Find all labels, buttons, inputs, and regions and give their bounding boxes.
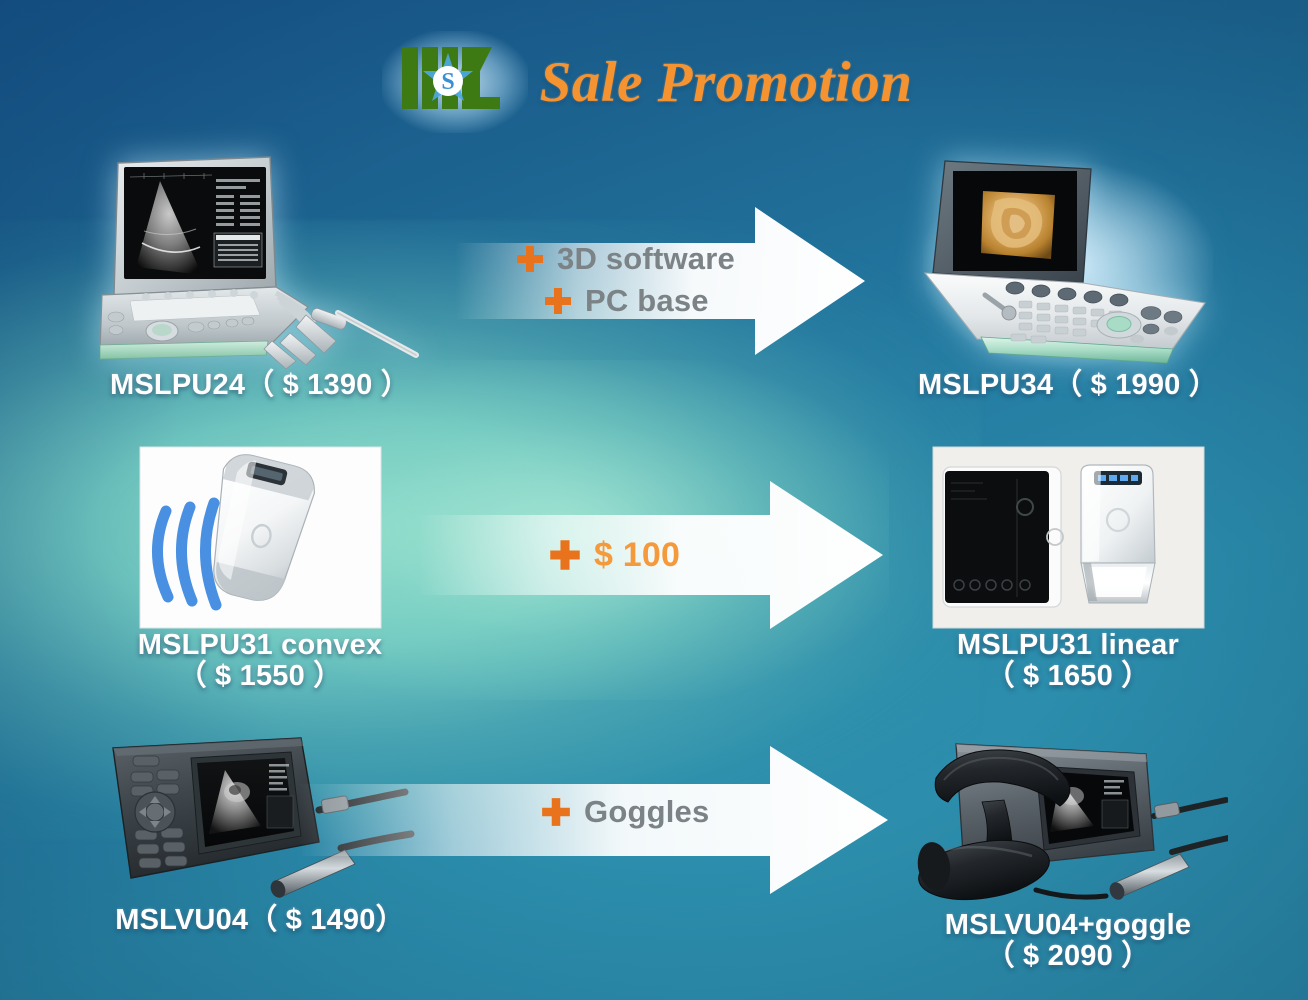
promo-stage: S Sale Promotion bbox=[0, 0, 1308, 1000]
product-mslpu31-convex[interactable]: MSLPU31 convex （ $ 1550 ） bbox=[60, 445, 460, 693]
product-label-mslpu34: MSLPU34（ $ 1990 ） bbox=[868, 370, 1268, 401]
row-2: MSLPU31 convex （ $ 1550 ） $ 100 bbox=[0, 445, 1308, 715]
handheld-vet-with-goggles-art bbox=[908, 730, 1228, 910]
product-label-mslvu04-goggle: MSLVU04+goggle （ $ 2090 ） bbox=[868, 910, 1268, 973]
product-mslpu24[interactable]: MSLPU24（ $ 1390 ） bbox=[60, 155, 460, 401]
laptop-ultrasound-3d-art bbox=[923, 155, 1213, 370]
arrow-100-upgrade[interactable] bbox=[418, 481, 883, 629]
product-mslpu31-linear[interactable]: MSLPU31 linear （ $ 1650 ） bbox=[868, 445, 1268, 693]
logo-letter: S bbox=[441, 69, 454, 95]
row-3: MSLVU04（ $ 1490） Goggles bbox=[0, 730, 1308, 990]
arrow-3d-upgrade[interactable] bbox=[455, 207, 865, 355]
product-label-mslpu24: MSLPU24（ $ 1390 ） bbox=[60, 370, 460, 401]
page-header: S Sale Promotion bbox=[0, 36, 1308, 128]
row-1: MSLPU24（ $ 1390 ） 3D software bbox=[0, 155, 1308, 430]
product-mslvu04-goggle[interactable]: MSLVU04+goggle （ $ 2090 ） bbox=[868, 730, 1268, 973]
product-label-mslvu04: MSLVU04（ $ 1490） bbox=[60, 905, 460, 936]
product-mslpu34[interactable]: MSLPU34（ $ 1990 ） bbox=[868, 155, 1268, 401]
product-label-mslpu31-convex: MSLPU31 convex （ $ 1550 ） bbox=[60, 630, 460, 693]
page-title: Sale Promotion bbox=[540, 50, 913, 115]
label-main: MSLVU04+goggle bbox=[945, 909, 1191, 941]
label-price: （ $ 1650 ） bbox=[868, 661, 1268, 692]
label-main: MSLVU04（ $ 1490） bbox=[115, 904, 405, 936]
arrow-goggles-upgrade[interactable] bbox=[298, 742, 888, 898]
brand-logo: S bbox=[396, 39, 514, 125]
label-main: MSLPU31 convex bbox=[138, 629, 383, 661]
product-label-mslpu31-linear: MSLPU31 linear （ $ 1650 ） bbox=[868, 630, 1268, 693]
laptop-ultrasound-2d-art bbox=[100, 155, 420, 370]
label-price: （ $ 2090 ） bbox=[868, 941, 1268, 972]
tablet-and-linear-probe-art bbox=[931, 445, 1206, 630]
label-main: MSLPU31 linear bbox=[957, 629, 1179, 661]
label-main: MSLPU24（ $ 1390 ） bbox=[110, 369, 410, 401]
wireless-probe-convex-art bbox=[138, 445, 383, 630]
label-main: MSLPU34（ $ 1990 ） bbox=[918, 369, 1218, 401]
label-price: （ $ 1550 ） bbox=[60, 661, 460, 692]
msl-logo-icon: S bbox=[396, 39, 514, 125]
